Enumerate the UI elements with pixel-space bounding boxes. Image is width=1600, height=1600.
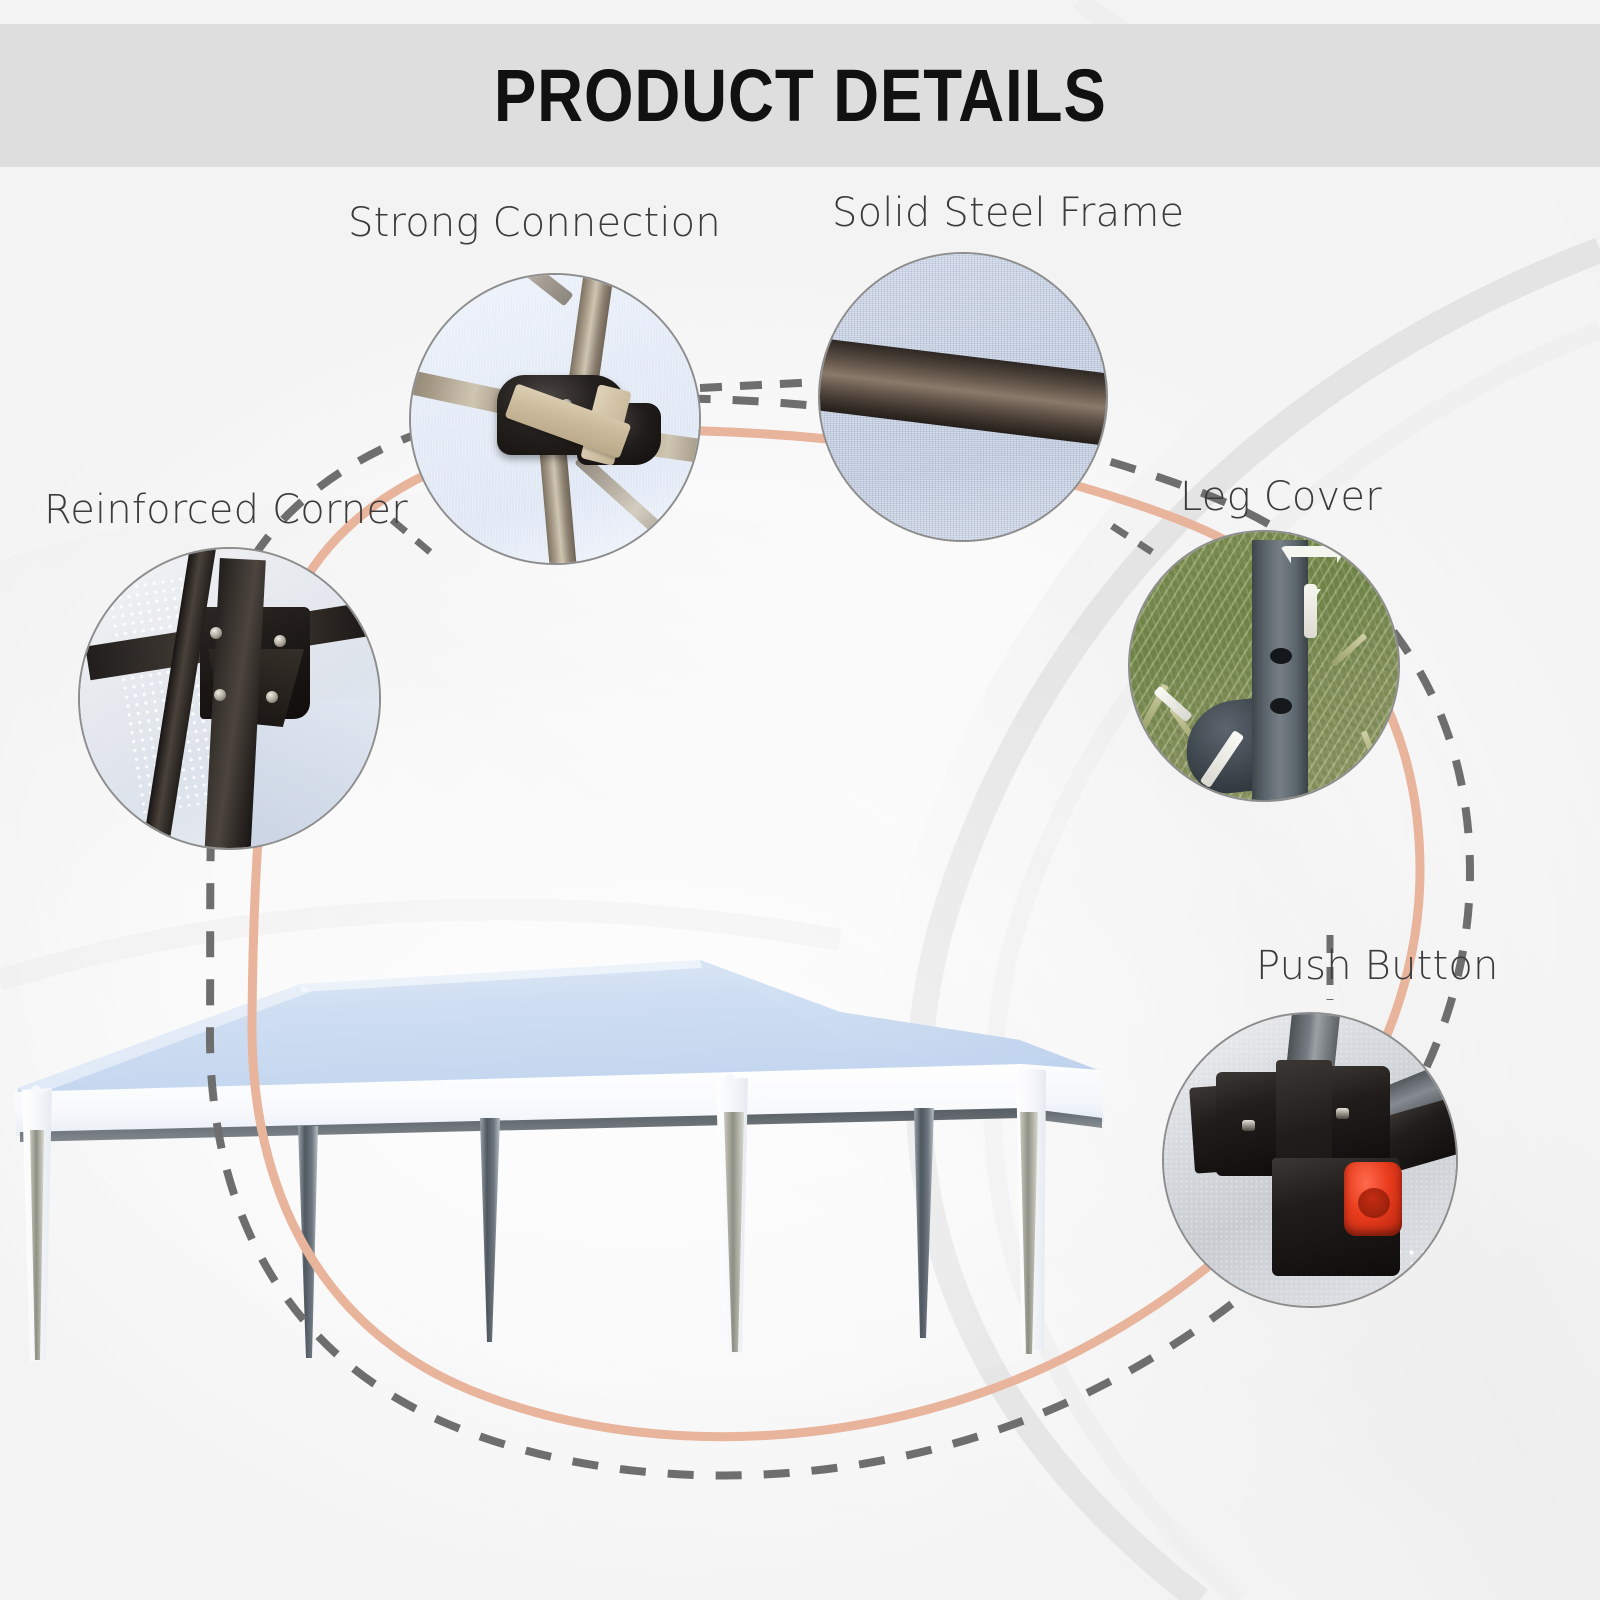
leg-cover-stem [1304,584,1317,638]
callout-leg-cover[interactable] [1128,530,1400,802]
corner-bolt-1 [210,627,222,639]
photo-frame-pushbutton [1164,1014,1456,1306]
product-details-page: PRODUCT DETAILS [0,0,1600,1600]
photo-frame-legcover [1130,532,1398,800]
leg-post [1252,540,1308,802]
label-leg-cover: Leg Cover [1180,474,1382,520]
page-title: PRODUCT DETAILS [494,53,1107,138]
push-bolt-2 [1336,1108,1349,1119]
callout-reinforced-corner[interactable] [78,547,381,850]
header-banner: PRODUCT DETAILS [0,24,1600,167]
corner-bolt-4 [266,691,278,703]
corner-bolt-2 [274,635,286,647]
callout-solid-steel-frame[interactable] [818,252,1108,542]
push-bolt-1 [1242,1120,1255,1131]
photo-frame-corner [80,549,379,848]
leg-hole-2 [1270,698,1292,714]
leg-hole-1 [1270,648,1292,664]
callout-strong-connection[interactable] [409,273,701,565]
label-strong-connection: Strong Connection [348,200,721,246]
label-solid-steel-frame: Solid Steel Frame [832,190,1184,236]
photo-frame-steel [820,254,1106,540]
label-reinforced-corner: Reinforced Corner [44,487,408,533]
corner-bolt-3 [214,689,226,701]
callout-push-button[interactable] [1162,1012,1458,1308]
red-push-button[interactable] [1344,1162,1402,1236]
label-push-button: Push Button [1256,943,1499,989]
photo-frame-hub [411,275,699,563]
